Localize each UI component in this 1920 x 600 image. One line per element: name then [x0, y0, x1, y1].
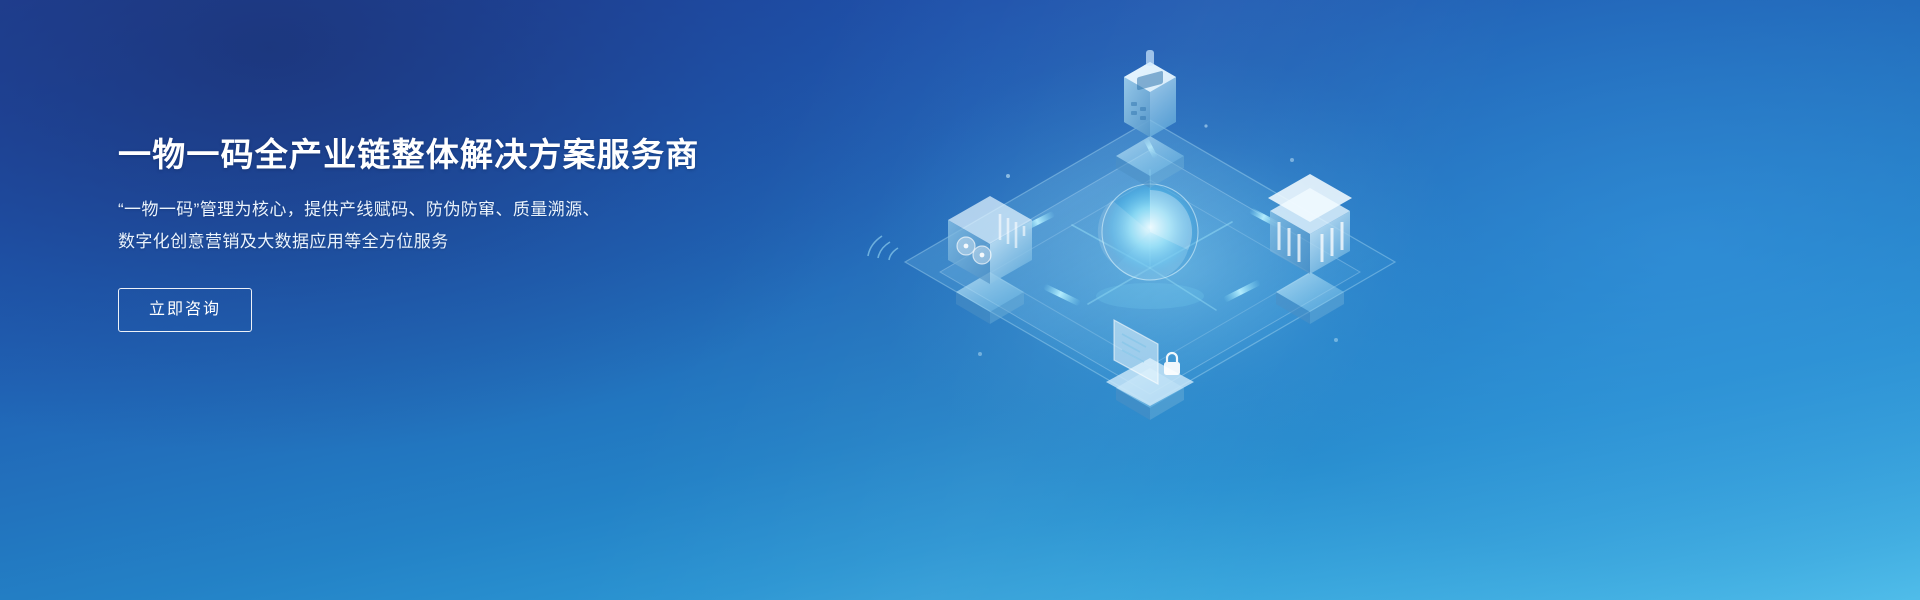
hero-subtitle-line-1: “一物一码”管理为核心，提供产线赋码、防伪防窜、质量溯源、	[118, 194, 758, 226]
hero-subtitle: “一物一码”管理为核心，提供产线赋码、防伪防窜、质量溯源、 数字化创意营销及大数…	[118, 194, 758, 258]
hero-illustration	[840, 10, 1460, 590]
page-title: 一物一码全产业链整体解决方案服务商	[118, 134, 758, 175]
consult-now-button[interactable]: 立即咨询	[118, 288, 252, 332]
hero-copy-block: 一物一码全产业链整体解决方案服务商 “一物一码”管理为核心，提供产线赋码、防伪防…	[118, 134, 758, 332]
bank-node	[1268, 174, 1352, 324]
hero-banner: 一物一码全产业链整体解决方案服务商 “一物一码”管理为核心，提供产线赋码、防伪防…	[0, 0, 1920, 600]
hero-subtitle-line-2: 数字化创意营销及大数据应用等全方位服务	[118, 226, 758, 258]
